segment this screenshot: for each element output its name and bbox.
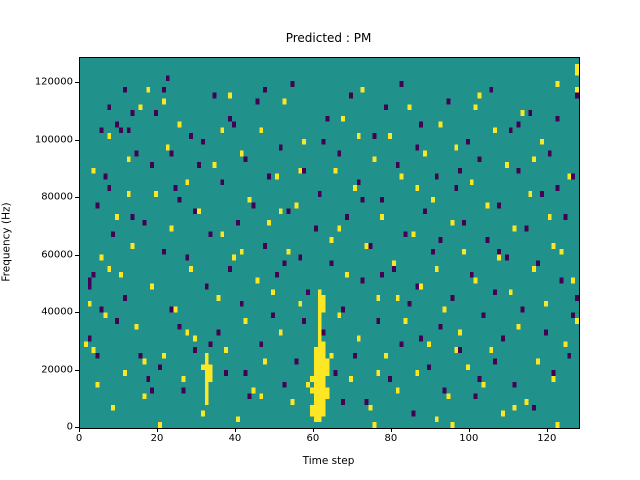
y-tick-label: 40000 [41, 307, 73, 318]
y-tick-mark [75, 312, 79, 313]
heatmap-plot-area [79, 57, 580, 429]
x-tick-label: 120 [537, 433, 556, 444]
x-tick-mark [313, 428, 314, 432]
y-tick-mark [75, 82, 79, 83]
y-axis-label: Frequency (Hz) [0, 57, 14, 427]
x-tick-mark [469, 428, 470, 432]
y-tick-label: 60000 [41, 249, 73, 260]
y-tick-mark [75, 255, 79, 256]
y-tick-label: 0 [67, 422, 73, 433]
heatmap-image [80, 58, 579, 428]
y-tick-label: 120000 [35, 77, 73, 88]
x-tick-label: 80 [385, 433, 398, 444]
x-tick-label: 60 [307, 433, 320, 444]
x-tick-mark [547, 428, 548, 432]
x-tick-label: 40 [229, 433, 242, 444]
matplotlib-figure: Predicted : PM 020406080100120 020000400… [0, 0, 640, 480]
y-tick-mark [75, 370, 79, 371]
y-axis-label-text: Frequency (Hz) [1, 202, 13, 281]
page-title: Predicted : PM [79, 31, 578, 45]
x-axis-label: Time step [79, 455, 578, 467]
y-tick-label: 80000 [41, 192, 73, 203]
x-tick-mark [235, 428, 236, 432]
y-tick-mark [75, 197, 79, 198]
x-tick-mark [79, 428, 80, 432]
y-tick-label: 100000 [35, 134, 73, 145]
x-tick-label: 100 [459, 433, 478, 444]
y-tick-mark [75, 140, 79, 141]
x-tick-label: 20 [151, 433, 164, 444]
y-tick-mark [75, 427, 79, 428]
x-tick-mark [391, 428, 392, 432]
y-tick-label: 20000 [41, 364, 73, 375]
x-tick-label: 0 [76, 433, 82, 444]
x-tick-mark [157, 428, 158, 432]
